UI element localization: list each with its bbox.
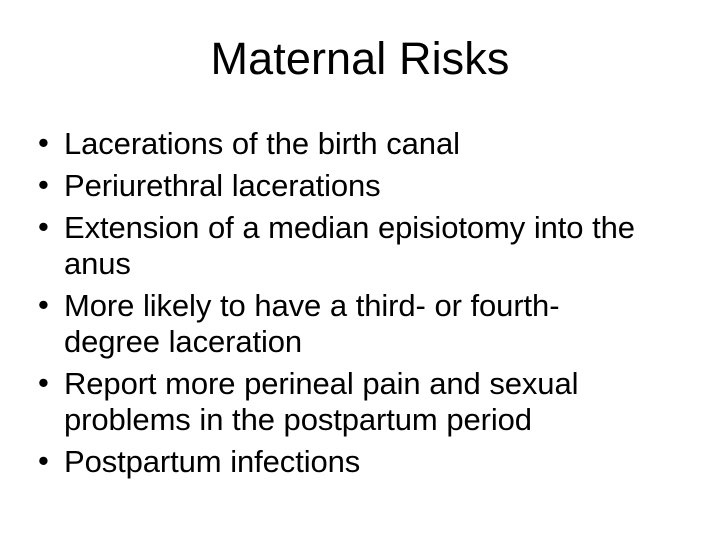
list-item: • Report more perineal pain and sexual p…	[38, 366, 686, 438]
bullet-point-icon: •	[38, 125, 64, 161]
bullet-point-icon: •	[38, 443, 64, 479]
list-item-line: More likely to have a third- or fourth-	[64, 288, 686, 324]
list-item-text: Periurethral lacerations	[64, 168, 686, 204]
list-item-text: More likely to have a third- or fourth- …	[64, 288, 686, 360]
list-item: • Periurethral lacerations	[38, 168, 686, 204]
list-item-line: Postpartum infections	[64, 444, 686, 480]
list-item-line: Report more perineal pain and sexual	[64, 366, 686, 402]
list-item-text: Report more perineal pain and sexual pro…	[64, 366, 686, 438]
list-item-line: Lacerations of the birth canal	[64, 126, 686, 162]
list-item-line: problems in the postpartum period	[64, 402, 686, 438]
bullet-point-icon: •	[38, 287, 64, 323]
list-item-line: Periurethral lacerations	[64, 168, 686, 204]
presentation-slide: Maternal Risks • Lacerations of the birt…	[0, 0, 720, 540]
list-item-line: Extension of a median episiotomy into th…	[64, 210, 686, 246]
list-item-text: Extension of a median episiotomy into th…	[64, 210, 686, 282]
list-item: • Extension of a median episiotomy into …	[38, 210, 686, 282]
list-item-text: Lacerations of the birth canal	[64, 126, 686, 162]
bullet-point-icon: •	[38, 167, 64, 203]
list-item-line: anus	[64, 246, 686, 282]
list-item-text: Postpartum infections	[64, 444, 686, 480]
list-item: • Postpartum infections	[38, 444, 686, 480]
list-item: • More likely to have a third- or fourth…	[38, 288, 686, 360]
list-item: • Lacerations of the birth canal	[38, 126, 686, 162]
bullet-point-icon: •	[38, 209, 64, 245]
list-item-line: degree laceration	[64, 324, 686, 360]
bullet-list: • Lacerations of the birth canal • Periu…	[38, 126, 686, 486]
page-title: Maternal Risks	[40, 33, 680, 85]
bullet-point-icon: •	[38, 365, 64, 401]
